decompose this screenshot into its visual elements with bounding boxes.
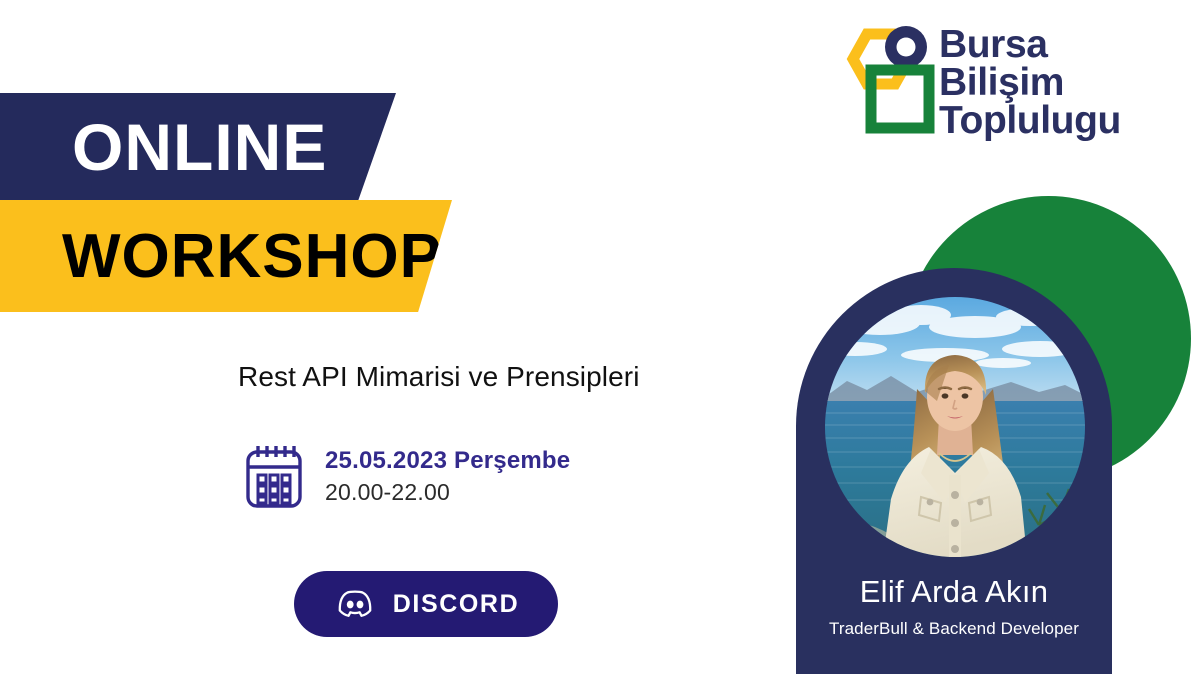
banner-online-label: ONLINE <box>72 109 327 185</box>
speaker-portrait-image <box>825 297 1085 557</box>
brand-name-line-3: Toplulugu <box>939 102 1121 140</box>
speaker-role: TraderBull & Backend Developer <box>796 619 1112 639</box>
session-title: Rest API Mimarisi ve Prensipleri <box>238 361 640 393</box>
brand-name-line-1: Bursa <box>939 26 1121 64</box>
discord-button[interactable]: DISCORD <box>294 571 558 637</box>
session-datetime: 25.05.2023 Perşembe 20.00-22.00 <box>243 443 570 509</box>
session-time: 20.00-22.00 <box>325 479 570 506</box>
session-date: 25.05.2023 Perşembe <box>325 447 570 475</box>
datetime-text: 25.05.2023 Perşembe 20.00-22.00 <box>325 447 570 506</box>
calendar-icon <box>243 443 305 509</box>
speaker-name: Elif Arda Akın <box>796 574 1112 610</box>
bursa-bilisim-hexagon-circle-square-mark <box>833 22 935 142</box>
brand-logo: Bursa Bilişim Toplulugu <box>833 22 1133 154</box>
brand-name-line-2: Bilişim <box>939 64 1121 102</box>
brand-name: Bursa Bilişim Toplulugu <box>939 26 1121 141</box>
event-poster: Bursa Bilişim Toplulugu ONLINE WORKSHOP … <box>0 0 1199 674</box>
discord-button-label: DISCORD <box>393 590 519 619</box>
banner-workshop: WORKSHOP <box>0 200 452 312</box>
speaker-photo <box>825 297 1085 557</box>
banner-workshop-label: WORKSHOP <box>62 221 442 292</box>
banner-online: ONLINE <box>0 93 396 200</box>
discord-icon <box>333 587 377 621</box>
